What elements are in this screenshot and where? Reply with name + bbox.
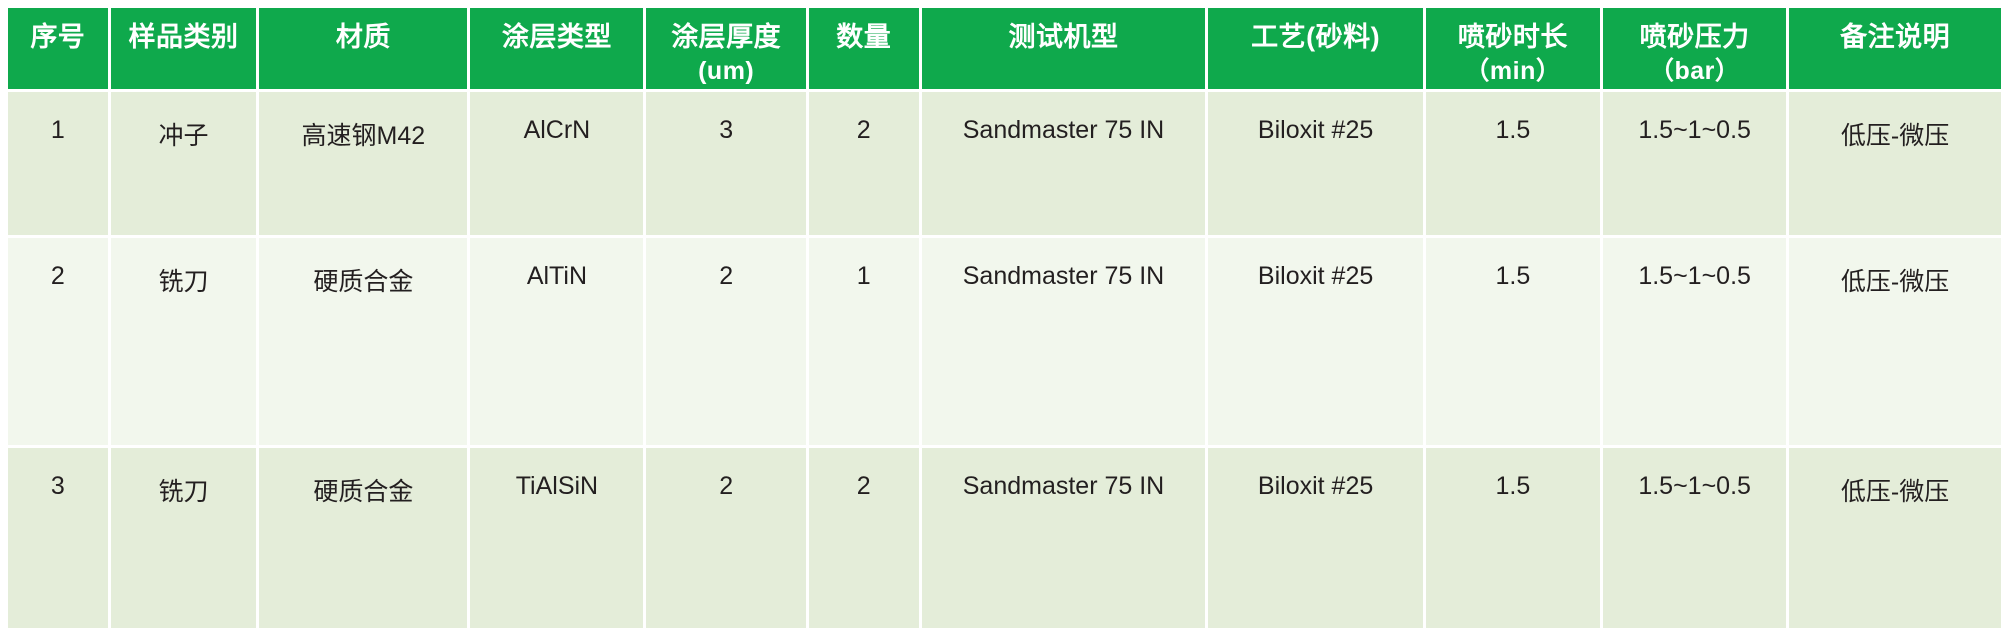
cell-remark: 低压-微压 (1789, 238, 2001, 445)
column-header-coating-type: 涂层类型 (470, 8, 643, 89)
cell-coating-type: AlCrN (470, 92, 643, 235)
column-header-process-sand-label: 工艺(砂料) (1251, 22, 1380, 52)
cell-material: 硬质合金 (259, 448, 467, 628)
column-header-test-machine-label: 测试机型 (1008, 22, 1118, 52)
table-row: 1 冲子 高速钢M42 AlCrN 3 2 Sandmaster 75 IN B… (8, 92, 2001, 235)
cell-quantity: 1 (809, 238, 919, 445)
cell-blast-pressure: 1.5~1~0.5 (1603, 448, 1786, 628)
cell-process-sand: Biloxit #25 (1208, 92, 1422, 235)
cell-seq: 2 (8, 238, 108, 445)
cell-process-sand: Biloxit #25 (1208, 238, 1422, 445)
sample-specification-table: 序号 样品类别 材质 涂层类型 涂层厚度 (um) 数量 (5, 5, 2004, 631)
column-header-quantity: 数量 (809, 8, 919, 89)
column-header-coating-thickness: 涂层厚度 (um) (646, 8, 805, 89)
cell-blast-time: 1.5 (1426, 92, 1600, 235)
cell-test-machine: Sandmaster 75 IN (922, 92, 1206, 235)
cell-sample-category: 铣刀 (111, 448, 257, 628)
column-header-quantity-label: 数量 (836, 22, 891, 52)
column-header-remark-label: 备注说明 (1840, 22, 1950, 52)
column-header-coating-thickness-unit: (um) (650, 55, 801, 89)
spec-table-container: 序号 样品类别 材质 涂层类型 涂层厚度 (um) 数量 (8, 8, 2007, 631)
cell-quantity: 2 (809, 448, 919, 628)
cell-blast-pressure: 1.5~1~0.5 (1603, 92, 1786, 235)
cell-blast-time: 1.5 (1426, 238, 1600, 445)
column-header-coating-type-label: 涂层类型 (502, 22, 612, 52)
cell-material: 高速钢M42 (259, 92, 467, 235)
table-row: 2 铣刀 硬质合金 AlTiN 2 1 Sandmaster 75 IN Bil… (8, 238, 2001, 445)
cell-coating-thickness: 2 (646, 448, 805, 628)
cell-blast-time: 1.5 (1426, 448, 1600, 628)
column-header-blast-time-unit: （min） (1430, 55, 1596, 89)
column-header-sample-category-label: 样品类别 (129, 22, 239, 52)
cell-sample-category: 冲子 (111, 92, 257, 235)
column-header-seq: 序号 (8, 8, 108, 89)
cell-process-sand: Biloxit #25 (1208, 448, 1422, 628)
cell-remark: 低压-微压 (1789, 92, 2001, 235)
column-header-coating-thickness-label: 涂层厚度 (671, 22, 781, 52)
column-header-seq-label: 序号 (30, 22, 85, 52)
cell-material: 硬质合金 (259, 238, 467, 445)
column-header-blast-time-label: 喷砂时长 (1458, 22, 1568, 52)
header-row: 序号 样品类别 材质 涂层类型 涂层厚度 (um) 数量 (8, 8, 2001, 89)
table-body: 1 冲子 高速钢M42 AlCrN 3 2 Sandmaster 75 IN B… (8, 92, 2001, 628)
cell-seq: 3 (8, 448, 108, 628)
cell-coating-type: TiAlSiN (470, 448, 643, 628)
cell-remark: 低压-微压 (1789, 448, 2001, 628)
column-header-blast-pressure: 喷砂压力 （bar） (1603, 8, 1786, 89)
column-header-blast-pressure-unit: （bar） (1607, 55, 1782, 89)
cell-test-machine: Sandmaster 75 IN (922, 448, 1206, 628)
column-header-test-machine: 测试机型 (922, 8, 1206, 89)
column-header-blast-pressure-label: 喷砂压力 (1640, 22, 1750, 52)
column-header-process-sand: 工艺(砂料) (1208, 8, 1422, 89)
cell-quantity: 2 (809, 92, 919, 235)
cell-seq: 1 (8, 92, 108, 235)
column-header-sample-category: 样品类别 (111, 8, 257, 89)
column-header-material: 材质 (259, 8, 467, 89)
cell-coating-thickness: 2 (646, 238, 805, 445)
table-row: 3 铣刀 硬质合金 TiAlSiN 2 2 Sandmaster 75 IN B… (8, 448, 2001, 628)
cropped-edge-glyph-artifact (0, 352, 7, 394)
cell-blast-pressure: 1.5~1~0.5 (1603, 238, 1786, 445)
column-header-remark: 备注说明 (1789, 8, 2001, 89)
table-header: 序号 样品类别 材质 涂层类型 涂层厚度 (um) 数量 (8, 8, 2001, 89)
cell-test-machine: Sandmaster 75 IN (922, 238, 1206, 445)
column-header-material-label: 材质 (336, 22, 391, 52)
column-header-blast-time: 喷砂时长 （min） (1426, 8, 1600, 89)
cell-coating-type: AlTiN (470, 238, 643, 445)
cell-coating-thickness: 3 (646, 92, 805, 235)
cell-sample-category: 铣刀 (111, 238, 257, 445)
